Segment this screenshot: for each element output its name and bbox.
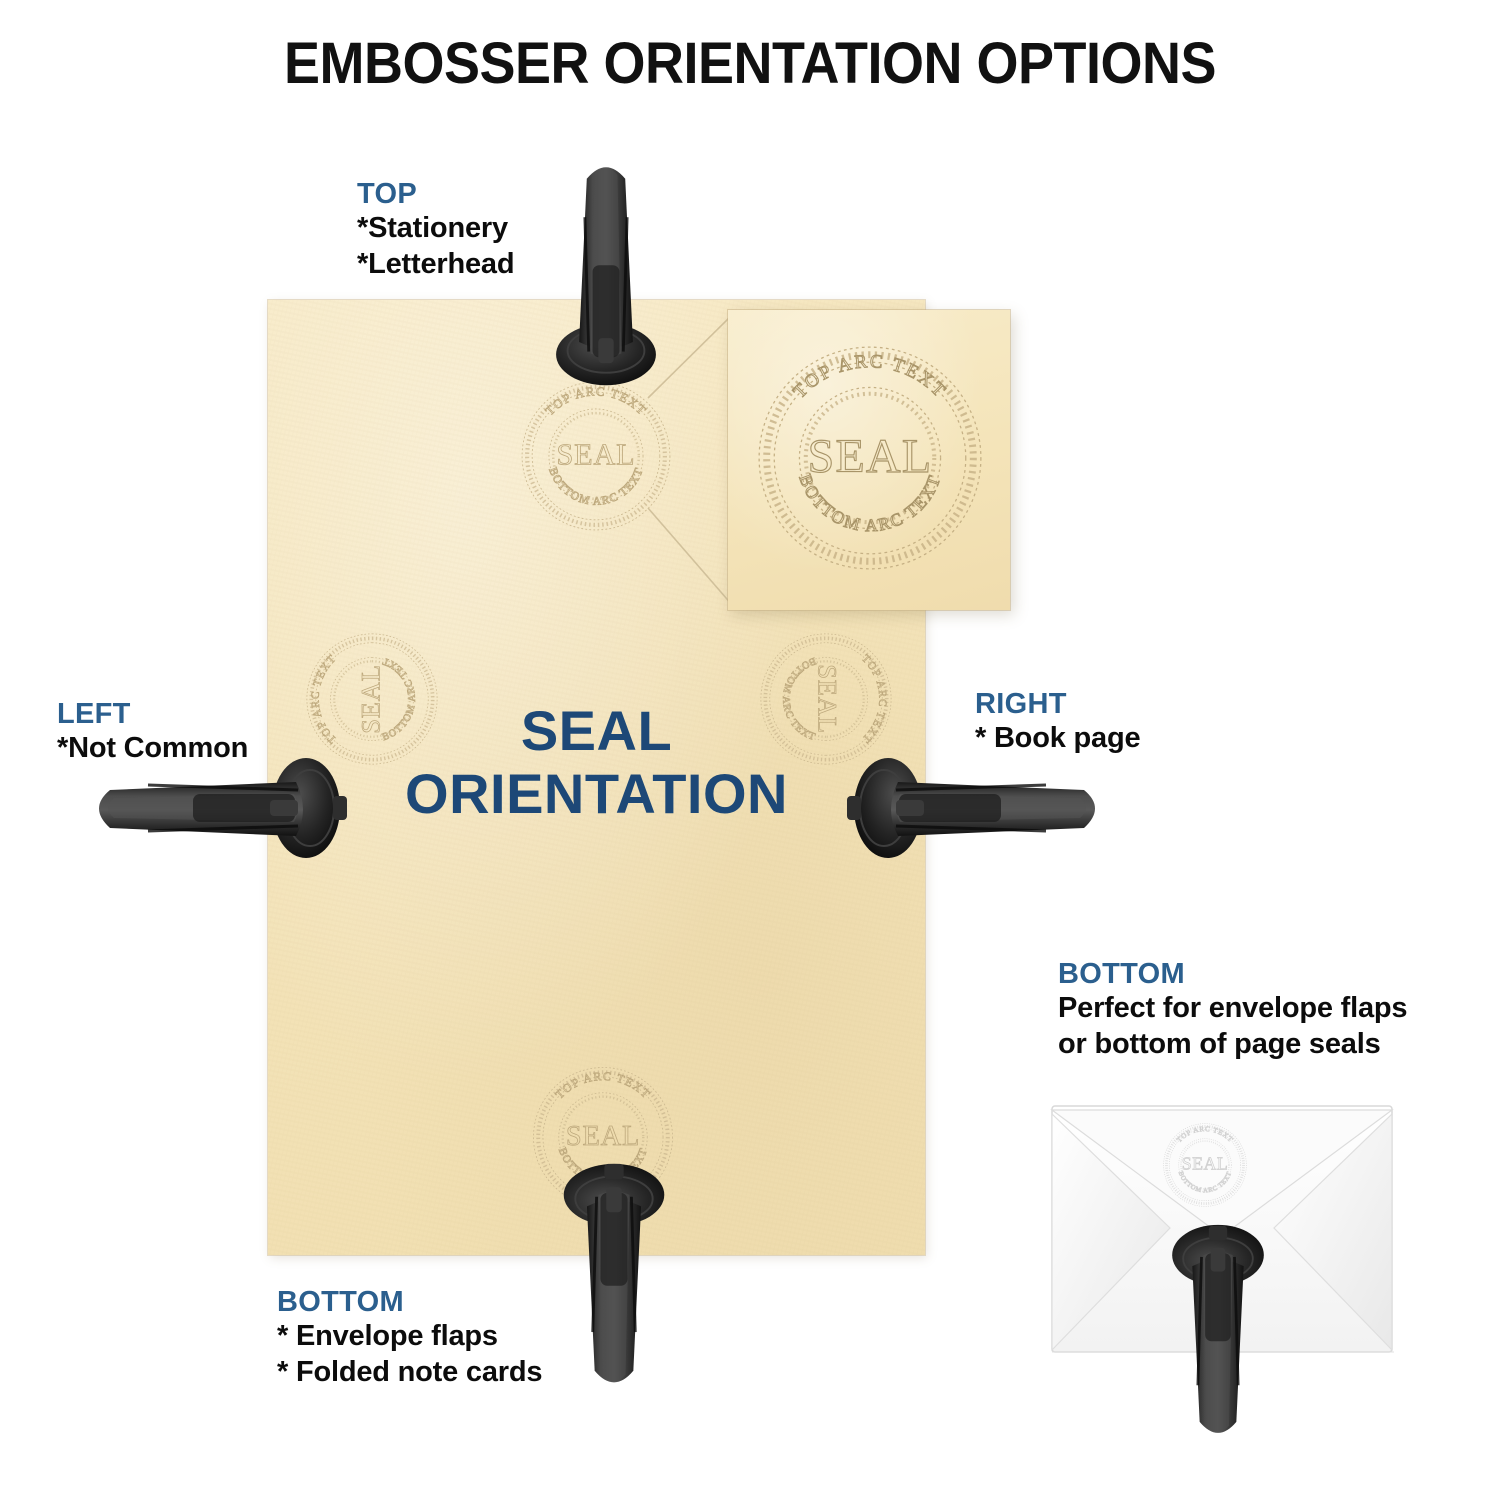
callout-left-line-1: *Not Common <box>57 731 248 766</box>
callout-top-heading: TOP <box>357 178 514 211</box>
callout-bottom-right-heading: BOTTOM <box>1058 958 1407 991</box>
callout-bottom-right-line-1: Perfect for envelope flaps <box>1058 991 1407 1026</box>
callout-right-heading: RIGHT <box>975 688 1140 721</box>
embosser-tool-right <box>846 752 1106 864</box>
embosser-tool-top <box>548 150 664 390</box>
callout-bottom-left-line-1: * Envelope flaps <box>277 1319 542 1354</box>
center-label-line2: ORIENTATION <box>268 763 925 826</box>
callout-bottom-left-heading: BOTTOM <box>277 1286 542 1319</box>
callout-right: RIGHT * Book page <box>975 688 1140 757</box>
callout-left-heading: LEFT <box>57 698 248 731</box>
center-label-line1: SEAL <box>521 699 672 762</box>
callout-top-line-2: *Letterhead <box>357 247 514 282</box>
embosser-tool-left <box>88 752 348 864</box>
callout-top: TOP *Stationery *Letterhead <box>357 178 514 282</box>
callout-bottom-right-line-2: or bottom of page seals <box>1058 1027 1407 1062</box>
embosser-orientation-infographic: EMBOSSER ORIENTATION OPTIONS TOP ARC TEX… <box>0 0 1500 1500</box>
seal-impression-magnified: TOP ARC TEXT BOTTOM ARC TEXT SEAL <box>744 332 996 584</box>
seal-zoom-inset-panel: TOP ARC TEXT BOTTOM ARC TEXT SEAL <box>728 310 1010 610</box>
page-title: EMBOSSER ORIENTATION OPTIONS <box>53 30 1448 97</box>
svg-text:BOTTOM ARC TEXT: BOTTOM ARC TEXT <box>795 471 944 535</box>
callout-left: LEFT *Not Common <box>57 698 248 767</box>
callout-bottom-left: BOTTOM * Envelope flaps * Folded note ca… <box>277 1286 542 1390</box>
embosser-tool-envelope <box>1163 1208 1273 1458</box>
callout-bottom-right: BOTTOM Perfect for envelope flaps or bot… <box>1058 958 1407 1062</box>
callout-right-line-1: * Book page <box>975 721 1140 756</box>
callout-bottom-left-line-2: * Folded note cards <box>277 1355 542 1390</box>
svg-text:SEAL: SEAL <box>808 430 933 483</box>
svg-text:TOP ARC TEXT: TOP ARC TEXT <box>789 351 951 403</box>
center-seal-orientation-label: SEAL ORIENTATION <box>268 700 925 825</box>
embosser-tool-bottom <box>556 1152 672 1402</box>
callout-top-line-1: *Stationery <box>357 211 514 246</box>
